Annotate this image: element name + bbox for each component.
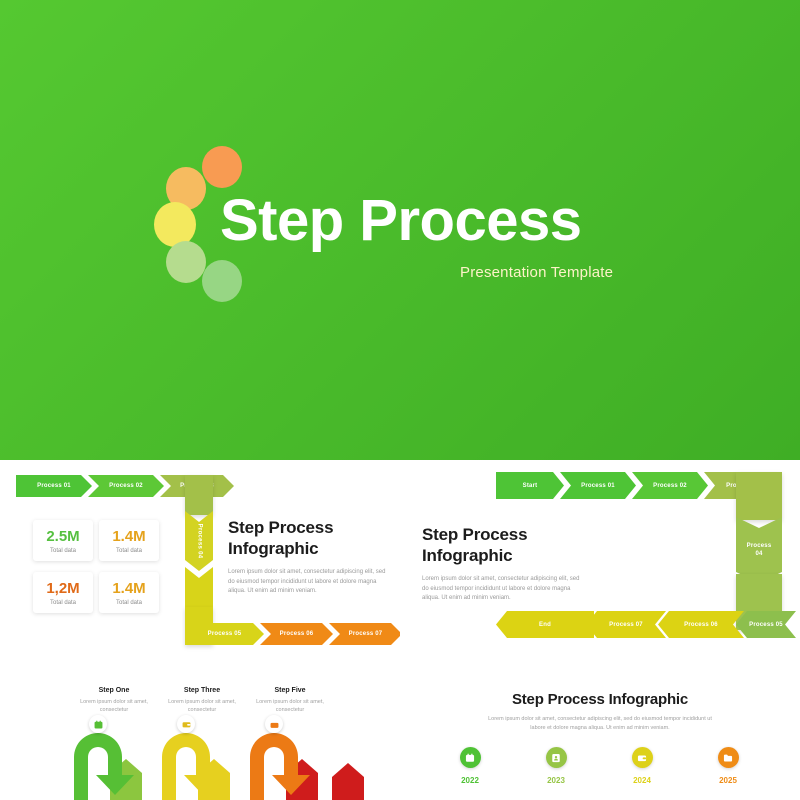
- chevron-process-05[interactable]: Process 05: [185, 623, 264, 645]
- chevron-label: Process 02: [109, 483, 143, 489]
- u-turn-arrow-three[interactable]: [148, 723, 248, 800]
- section-title-line1: Step Process: [422, 524, 582, 545]
- timeline-circle: [632, 747, 653, 768]
- stat-value: 2.5M: [46, 528, 79, 545]
- stat-label: Total data: [116, 548, 142, 554]
- hero-title: Step Process: [220, 190, 582, 252]
- timeline-node-2024[interactable]: 2024: [612, 747, 672, 785]
- timeline-year: 2024: [612, 776, 672, 785]
- chevron-start[interactable]: Start: [496, 472, 564, 499]
- badge-five[interactable]: [265, 715, 283, 733]
- folder-icon: [723, 753, 733, 763]
- slide-thumbnail-grid: Process 01 Process 02 Process 03 Process…: [0, 462, 800, 800]
- chevron-label: Process 06: [684, 622, 718, 628]
- calendar-icon: [465, 753, 475, 763]
- section-title-line2: Infographic: [422, 545, 582, 566]
- stat-label: Total data: [50, 600, 76, 606]
- chevron-process-02[interactable]: Process 02: [88, 475, 164, 497]
- wallet-icon: [182, 720, 191, 729]
- timeline-circle: [718, 747, 739, 768]
- calendar-icon: [94, 720, 103, 729]
- slide-step-process-left[interactable]: Process 01 Process 02 Process 03 Process…: [0, 462, 400, 677]
- chevron-process-06[interactable]: Process 06: [658, 611, 744, 638]
- timeline-year: 2023: [526, 776, 586, 785]
- timeline-circle: [460, 747, 481, 768]
- chevron-label: Process 05: [749, 622, 783, 628]
- chevron-process-07[interactable]: Process 07: [329, 623, 402, 645]
- dot-orange: [202, 146, 242, 188]
- timeline-year: 2022: [440, 776, 500, 785]
- dot-yellow: [154, 202, 196, 247]
- chevron-label: Start: [523, 483, 538, 489]
- chevron-process-02[interactable]: Process 02: [632, 472, 708, 499]
- slide-step-process-right[interactable]: Start Process 01 Process 02 Process 03 P…: [400, 462, 800, 677]
- chevron-label-line1: Process: [747, 542, 772, 550]
- section-body: Lorem ipsum dolor sit amet, consectetur …: [228, 568, 393, 597]
- chevron-label: Process 04: [196, 524, 202, 559]
- timeline-node-2023[interactable]: 2023: [526, 747, 586, 785]
- chevron-process-07[interactable]: Process 07: [586, 611, 666, 638]
- chevron-end[interactable]: End: [496, 611, 594, 638]
- badge-one[interactable]: [89, 715, 107, 733]
- badge-three[interactable]: [177, 715, 195, 733]
- wallet-icon: [637, 753, 647, 763]
- chevron-label: Process 06: [280, 631, 314, 637]
- u-turn-arrow-five[interactable]: [236, 723, 336, 800]
- stat-label: Total data: [50, 548, 76, 554]
- section-title-line2: Infographic: [228, 538, 393, 559]
- chevron-label: Process 07: [609, 622, 643, 628]
- stat-card[interactable]: 1.4M Total data: [99, 520, 159, 561]
- timeline-year: 2025: [698, 776, 758, 785]
- hero-content: Step Process Presentation Template: [150, 140, 670, 320]
- stat-value: 1.4M: [112, 580, 145, 597]
- hero-subtitle: Presentation Template: [460, 264, 613, 281]
- slide-step-arrows[interactable]: Step One Lorem ipsum dolor sit amet, con…: [0, 677, 400, 800]
- chevron-process-01[interactable]: Process 01: [560, 472, 636, 499]
- corner-connector-top: [185, 475, 213, 515]
- u-turn-arrow-one[interactable]: [60, 723, 160, 800]
- stat-value: 1.4M: [112, 528, 145, 545]
- section-heading-block: Step Process Infographic Lorem ipsum dol…: [228, 517, 393, 597]
- dot-pale-green: [166, 241, 206, 283]
- briefcase-icon: [270, 720, 279, 729]
- chevron-process-01[interactable]: Process 01: [16, 475, 92, 497]
- stat-value: 1,2M: [46, 580, 79, 597]
- chevron-label: End: [539, 622, 551, 628]
- timeline-title: Step Process Infographic: [400, 691, 800, 708]
- timeline-node-2022[interactable]: 2022: [440, 747, 500, 785]
- stat-card[interactable]: 1.4M Total data: [99, 572, 159, 613]
- section-body: Lorem ipsum dolor sit amet, consectetur …: [422, 575, 582, 604]
- hero-cover-slide: Step Process Presentation Template: [0, 0, 800, 460]
- chevron-label: Process 02: [653, 483, 687, 489]
- chevron-label: Process 01: [37, 483, 71, 489]
- chevron-label: Process 07: [349, 631, 383, 637]
- slide-deck-preview: Step Process Presentation Template Proce…: [0, 0, 800, 800]
- section-heading-block: Step Process Infographic Lorem ipsum dol…: [422, 524, 582, 604]
- chevron-process-05[interactable]: Process 05: [736, 611, 796, 638]
- chevron-label: Process 05: [208, 631, 242, 637]
- corner-connector-top: [736, 472, 782, 520]
- stat-card[interactable]: 1,2M Total data: [33, 572, 93, 613]
- stat-label: Total data: [116, 600, 142, 606]
- timeline-body: Lorem ipsum dolor sit amet, consectetur …: [480, 715, 720, 732]
- dot-light-green: [202, 260, 242, 302]
- slide-timeline[interactable]: Step Process Infographic Lorem ipsum dol…: [400, 677, 800, 800]
- stat-card[interactable]: 2.5M Total data: [33, 520, 93, 561]
- chevron-label-line2: 04: [755, 550, 762, 558]
- id-badge-icon: [551, 753, 561, 763]
- timeline-node-2025[interactable]: 2025: [698, 747, 758, 785]
- chevron-process-04-vertical[interactable]: Process 04: [185, 511, 213, 571]
- chevron-process-06[interactable]: Process 06: [260, 623, 333, 645]
- chevron-label: Process 01: [581, 483, 615, 489]
- timeline-circle: [546, 747, 567, 768]
- section-title-line1: Step Process: [228, 517, 393, 538]
